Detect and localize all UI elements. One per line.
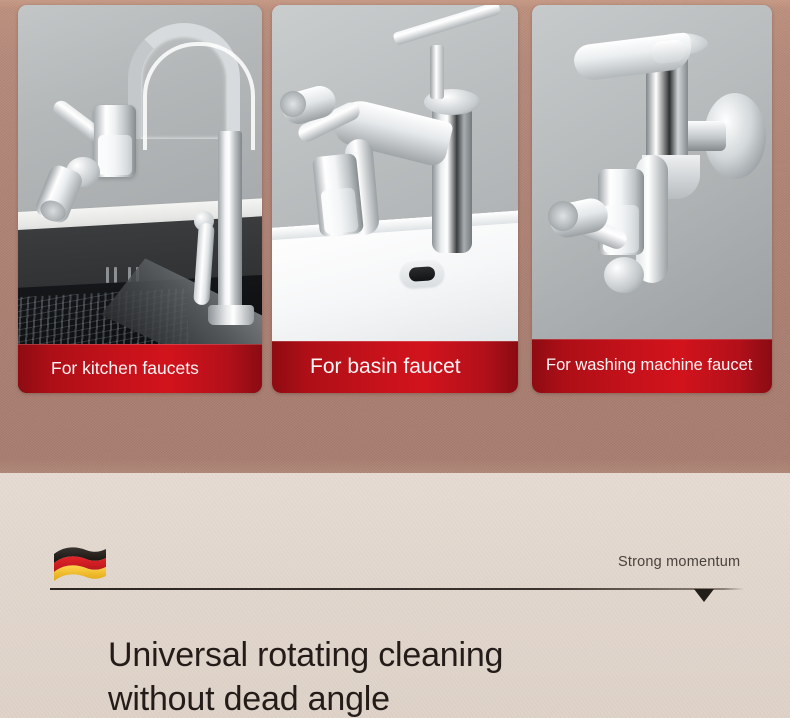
product-panel-basin[interactable]: For basin faucet [272, 5, 518, 393]
basin-overflow-slot [399, 259, 445, 288]
aerator-body [312, 153, 364, 237]
aerator-mesh-screen [280, 91, 306, 117]
wall-inlet-stub [682, 121, 726, 151]
faucet-base [208, 305, 254, 325]
scene-basin-faucet [272, 5, 518, 393]
divider-rule [50, 588, 744, 590]
panel-caption-kitchen: For kitchen faucets [18, 344, 262, 393]
product-panel-kitchen[interactable]: For kitchen faucets [18, 5, 262, 393]
scene-washing-machine-faucet [532, 5, 772, 393]
panel-caption-washing-machine: For washing machine faucet [532, 339, 772, 393]
panel-caption-basin: For basin faucet [272, 341, 518, 393]
aerator-swivel-joint [604, 257, 644, 293]
product-panel-washing-machine[interactable]: For washing machine faucet [532, 5, 772, 393]
scene-kitchen-faucet [18, 5, 262, 393]
faucet-gooseneck [128, 23, 240, 139]
strong-momentum-label: Strong momentum [618, 554, 740, 570]
product-marketing-image: For kitchen faucets For basin faucet [0, 0, 790, 718]
triangle-down-icon [694, 589, 714, 602]
german-flag-icon [50, 543, 110, 583]
aerator-body [94, 105, 136, 177]
basin-faucet-lever-post [430, 45, 444, 99]
page-headline: Universal rotating cleaning without dead… [108, 634, 503, 718]
faucet-column [218, 131, 242, 321]
